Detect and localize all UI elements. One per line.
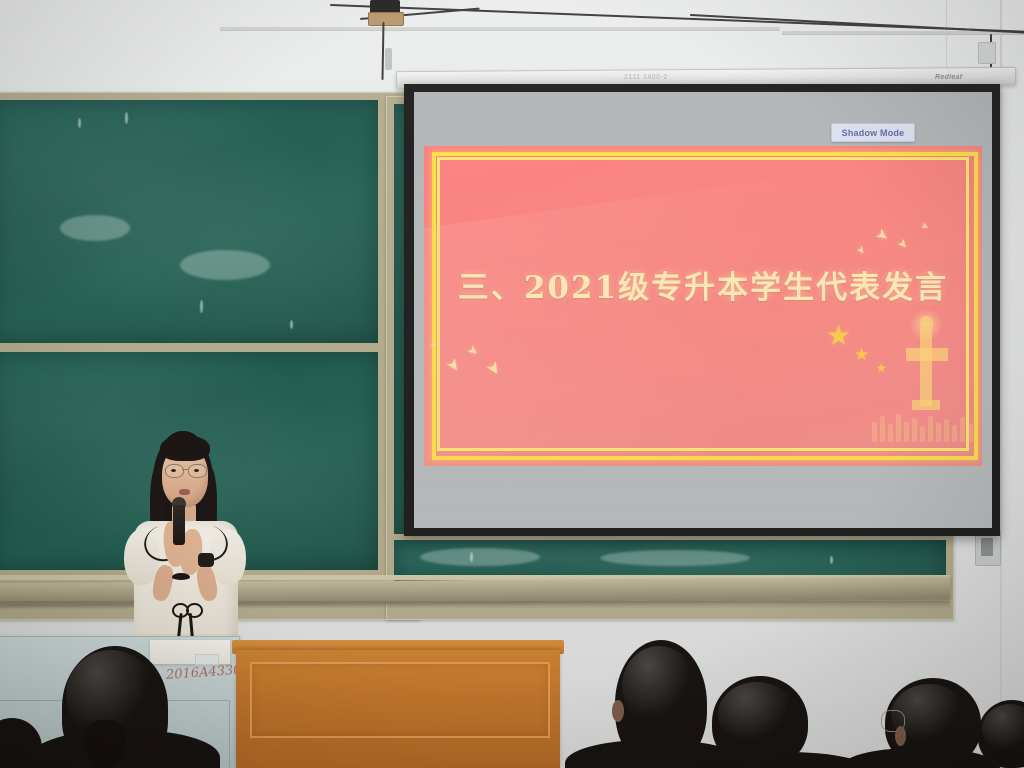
chalk-mark <box>78 118 81 128</box>
crowd-figure <box>936 423 941 442</box>
presenter-wristwatch <box>198 553 214 567</box>
crowd-figure <box>872 422 877 442</box>
wall-outlet-slot <box>981 538 993 556</box>
crowd-figure <box>928 416 933 442</box>
chalk-mark <box>470 552 473 562</box>
crowd-figure <box>880 416 885 442</box>
crowd-figure <box>968 424 973 442</box>
presenter-glasses-bridge <box>182 469 188 470</box>
chalk-smudge <box>60 215 130 241</box>
ceiling-mount-bracket <box>368 12 404 26</box>
chalk-mark <box>290 320 293 329</box>
audience-member-2-ear <box>612 700 624 722</box>
crowd-figure <box>896 414 901 442</box>
chalk-smudge <box>600 550 750 566</box>
presenter-chest-bow <box>172 573 190 580</box>
podium-front-panel <box>250 662 550 738</box>
crowd-figure <box>960 417 965 442</box>
star-icon: ★ <box>876 362 887 374</box>
audience-member-3-head-sheen <box>718 682 796 746</box>
presenter-fringe <box>160 435 210 461</box>
star-icon: ★ <box>854 346 869 363</box>
crowd-figure <box>920 426 925 442</box>
crowd-figure <box>912 418 917 442</box>
hanging-clip <box>385 48 392 70</box>
wall-moulding <box>220 27 780 30</box>
audience-member-1-ponytail <box>84 720 126 768</box>
housing-brand-label: Redleaf <box>935 74 962 81</box>
classroom-photo-scene: 2111 1400-2 Redleaf 三、2021级专升本学生代表发言 ➤ ➤… <box>0 0 1024 768</box>
wall-seam-vertical <box>1000 0 1002 768</box>
cabinet-sticker <box>195 654 219 665</box>
presenter-eye-right <box>194 469 199 472</box>
presenter-mouth <box>179 489 190 495</box>
chalk-smudge <box>420 548 540 566</box>
presenter <box>110 425 280 670</box>
star-icon: ★ <box>826 322 851 350</box>
screen-mount-right <box>978 42 996 64</box>
monument-shaft <box>920 328 932 406</box>
microphone[interactable] <box>173 505 185 545</box>
crowd-silhouette <box>870 408 978 442</box>
shadow-mode-badge[interactable]: Shadow Mode <box>831 123 915 142</box>
housing-serial-label: 2111 1400-2 <box>624 74 668 81</box>
presenter-eye-left <box>171 469 176 472</box>
chalk-smudge <box>180 250 270 280</box>
crowd-figure <box>944 419 949 442</box>
chalk-mark <box>125 112 128 124</box>
chalk-mark <box>830 556 833 564</box>
crowd-figure <box>952 425 957 442</box>
chalk-mark <box>200 300 203 313</box>
crowd-figure <box>904 422 909 442</box>
crowd-figure <box>888 424 893 442</box>
monument-crossbar <box>906 348 948 361</box>
monument-torch <box>920 316 933 328</box>
audience-member-2-head-sheen <box>622 646 696 726</box>
slide-title: 三、2021级专升本学生代表发言 <box>424 262 982 307</box>
audience-member-4-ear <box>895 726 906 746</box>
blackboard-panel-upper-left <box>0 100 378 343</box>
presentation-slide: 三、2021级专升本学生代表发言 ➤ ➤ ➤ ➤ ➤ ➤ ➤ ➤ ★ ★ ★ <box>424 146 982 466</box>
